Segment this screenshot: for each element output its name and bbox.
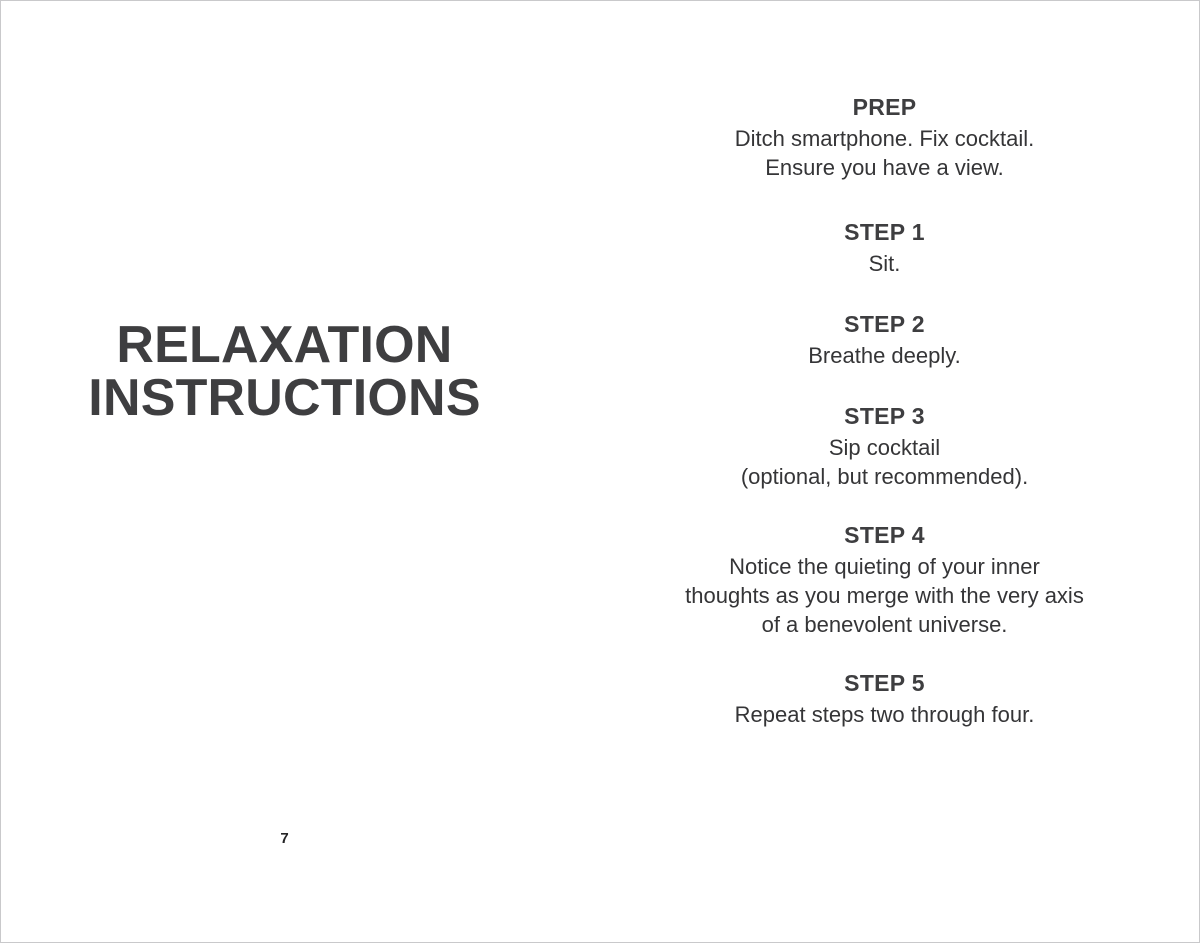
section-heading: STEP 2 — [650, 310, 1120, 338]
instruction-section-step-4: STEP 4 Notice the quieting of your inner… — [650, 521, 1120, 639]
section-heading: STEP 3 — [650, 402, 1120, 430]
section-heading: STEP 1 — [650, 218, 1120, 246]
instruction-section-step-3: STEP 3 Sip cocktail (optional, but recom… — [650, 402, 1120, 491]
body-line: Ensure you have a view. — [650, 153, 1120, 182]
instructions-list: PREP Ditch smartphone. Fix cocktail. Ens… — [650, 93, 1120, 729]
body-line: thoughts as you merge with the very axis — [650, 581, 1120, 610]
title-line-2: INSTRUCTIONS — [21, 372, 548, 425]
section-body: Repeat steps two through four. — [650, 700, 1120, 729]
section-body: Sit. — [650, 249, 1120, 278]
section-heading: STEP 4 — [650, 521, 1120, 549]
book-section-title: RELAXATION INSTRUCTIONS — [1, 319, 568, 425]
section-body: Breathe deeply. — [650, 341, 1120, 370]
title-line-1: RELAXATION — [21, 319, 548, 372]
section-body: Sip cocktail (optional, but recommended)… — [650, 433, 1120, 491]
instruction-section-step-2: STEP 2 Breathe deeply. — [650, 310, 1120, 370]
instruction-section-step-5: STEP 5 Repeat steps two through four. — [650, 669, 1120, 729]
page-number-left: 7 — [1, 829, 568, 849]
left-page: RELAXATION INSTRUCTIONS 7 — [1, 1, 568, 943]
section-body: Notice the quieting of your inner though… — [650, 552, 1120, 639]
body-line: of a benevolent universe. — [650, 610, 1120, 639]
body-line: Breathe deeply. — [650, 341, 1120, 370]
page-number-right: 8 — [1135, 829, 1200, 849]
body-line: Sit. — [650, 249, 1120, 278]
section-heading: PREP — [650, 93, 1120, 121]
body-line: Ditch smartphone. Fix cocktail. — [650, 124, 1120, 153]
right-page: PREP Ditch smartphone. Fix cocktail. Ens… — [568, 1, 1200, 943]
body-line: Sip cocktail — [650, 433, 1120, 462]
section-heading: STEP 5 — [650, 669, 1120, 697]
book-spread: RELAXATION INSTRUCTIONS 7 PREP Ditch sma… — [0, 0, 1200, 943]
instruction-section-prep: PREP Ditch smartphone. Fix cocktail. Ens… — [650, 93, 1120, 182]
body-line: Repeat steps two through four. — [650, 700, 1120, 729]
section-body: Ditch smartphone. Fix cocktail. Ensure y… — [650, 124, 1120, 182]
instruction-section-step-1: STEP 1 Sit. — [650, 218, 1120, 278]
body-line: Notice the quieting of your inner — [650, 552, 1120, 581]
body-line: (optional, but recommended). — [650, 462, 1120, 491]
